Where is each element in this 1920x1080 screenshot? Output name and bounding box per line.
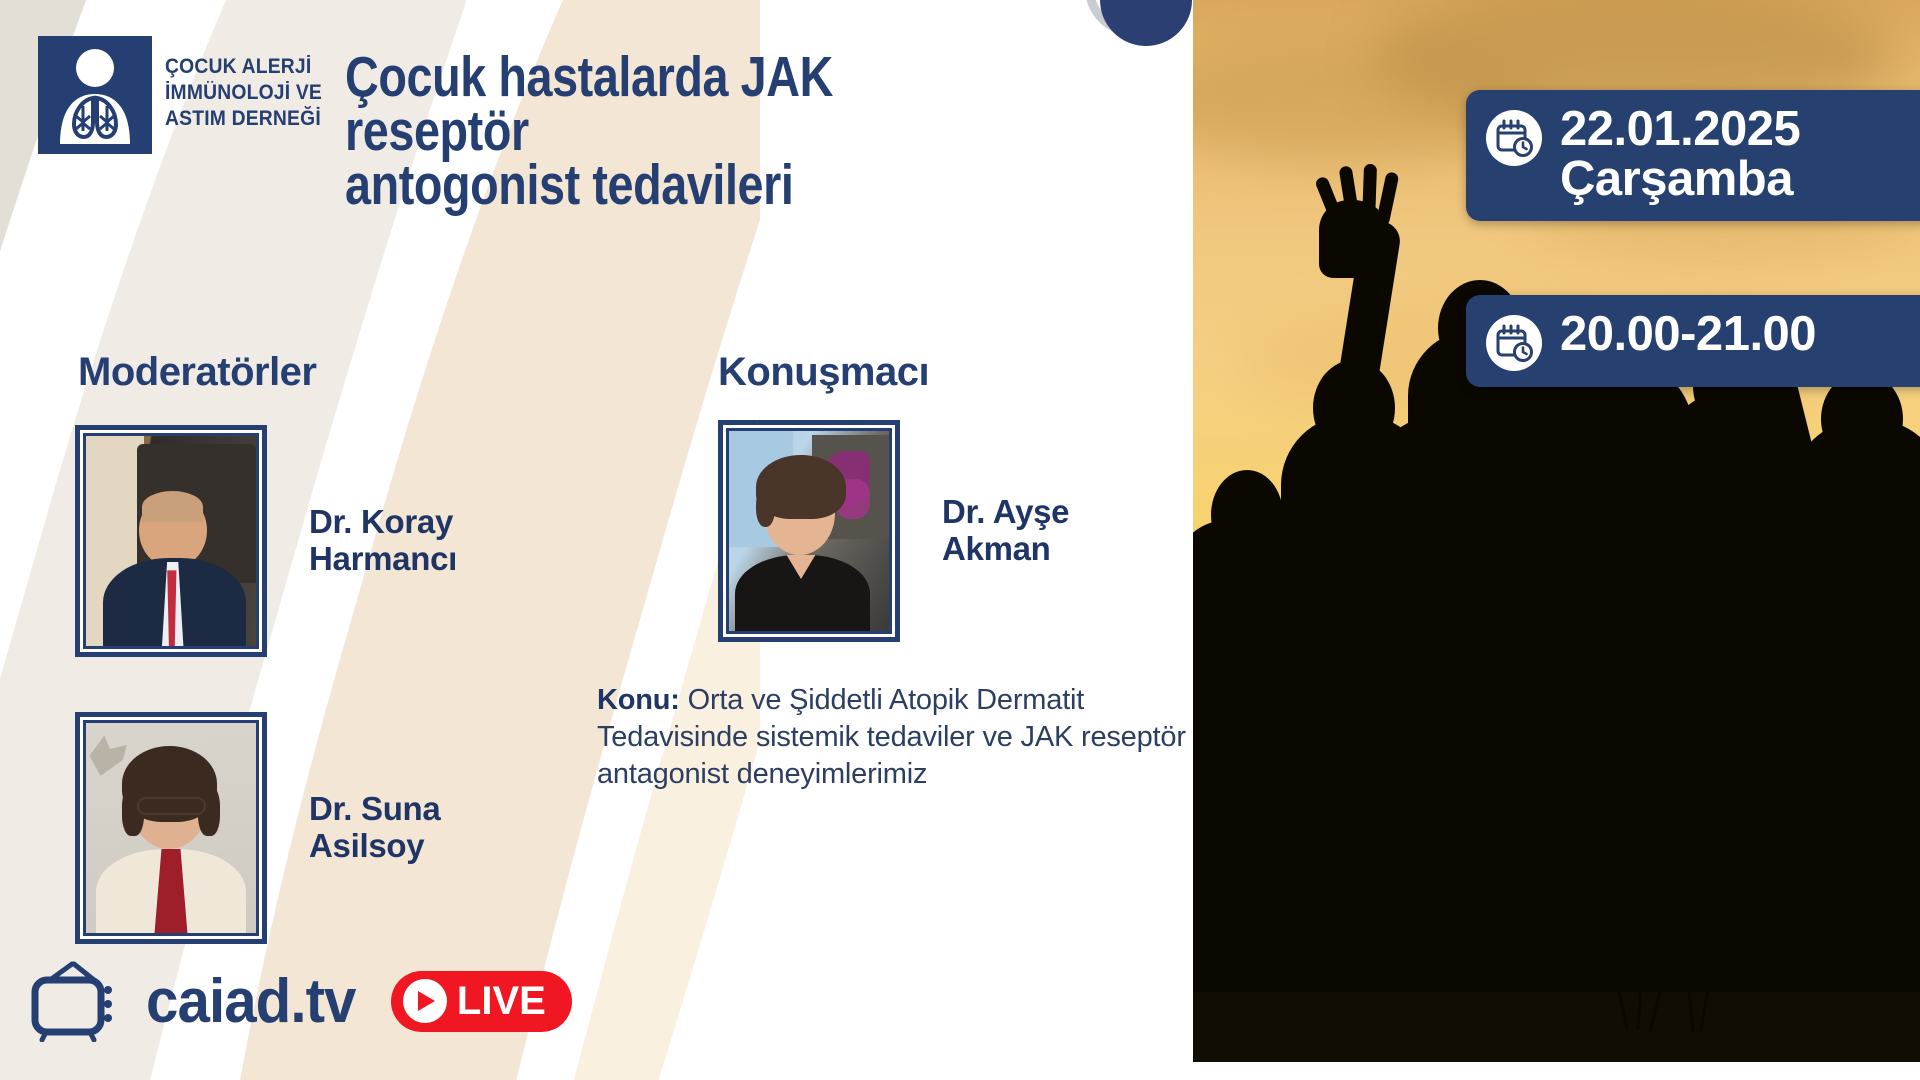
moderator-entry: Dr. Koray Harmancı (75, 425, 457, 657)
topic-label: Konu: (597, 684, 680, 716)
lungs-person-icon (38, 36, 152, 154)
organization-name: ÇOCUK ALERJİ İMMÜNOLOJİ VE ASTIM DERNEĞİ (165, 56, 336, 134)
live-label: LIVE (457, 979, 546, 1024)
left-content-panel: ÇOCUK ALERJİ İMMÜNOLOJİ VE ASTIM DERNEĞİ… (0, 0, 1193, 1080)
silhouette-finger (1362, 164, 1377, 224)
poster-title: Çocuk hastalarda JAK reseptör antogonist… (345, 50, 1026, 212)
portrait-frame-inner (726, 428, 892, 634)
portrait-frame-inner (83, 433, 259, 649)
speaker-name: Dr. Ayşe Akman (942, 494, 1069, 568)
org-name-line-1: ÇOCUK ALERJİ (165, 56, 322, 78)
poster-root: ÇOCUK ALERJİ İMMÜNOLOJİ VE ASTIM DERNEĞİ… (0, 0, 1920, 1080)
silhouette-ground (1193, 992, 1920, 1062)
speaker-heading: Konuşmacı (718, 350, 929, 395)
time-text: 20.00-21.00 (1560, 309, 1816, 359)
moderator-entry: Dr. Suna Asilsoy (75, 712, 440, 944)
brand-name: caiad.tv (146, 966, 356, 1037)
date-text: 22.01.2025 Çarşamba (1560, 104, 1800, 205)
moderators-heading: Moderatörler (78, 350, 317, 395)
topic-paragraph: Konu: Orta ve Şiddetli Atopik Dermatit T… (597, 682, 1193, 793)
live-badge[interactable]: LIVE (391, 971, 572, 1032)
portrait-frame (75, 425, 267, 657)
portrait-koray-harmanci (86, 436, 256, 646)
organization-logo: ÇOCUK ALERJİ İMMÜNOLOJİ VE ASTIM DERNEĞİ (38, 36, 336, 154)
portrait-frame-inner (83, 720, 259, 936)
portrait-ayse-akman (729, 431, 889, 631)
portrait-frame (75, 712, 267, 944)
footer-brand-bar: caiad.tv LIVE (28, 960, 572, 1042)
moderator-name: Dr. Koray Harmancı (309, 504, 457, 578)
date-badge: 22.01.2025 Çarşamba (1466, 90, 1920, 221)
tv-icon (28, 960, 124, 1042)
panel-bottom-edge (1193, 1062, 1920, 1080)
calendar-clock-icon (1486, 110, 1542, 166)
play-icon (403, 979, 447, 1023)
silhouette-figure (1793, 420, 1920, 1062)
org-name-line-3: ASTIM DERNEĞİ (165, 108, 322, 130)
topic-text: Orta ve Şiddetli Atopik Dermatit Tedavis… (597, 684, 1186, 790)
calendar-clock-icon (1486, 315, 1542, 371)
org-name-line-2: İMMÜNOLOJİ VE (165, 82, 322, 104)
moderator-name: Dr. Suna Asilsoy (309, 791, 440, 865)
speaker-entry: Dr. Ayşe Akman (718, 420, 1069, 642)
portrait-frame (718, 420, 900, 642)
portrait-suna-asilsoy (86, 723, 256, 933)
time-badge: 20.00-21.00 (1466, 295, 1920, 387)
